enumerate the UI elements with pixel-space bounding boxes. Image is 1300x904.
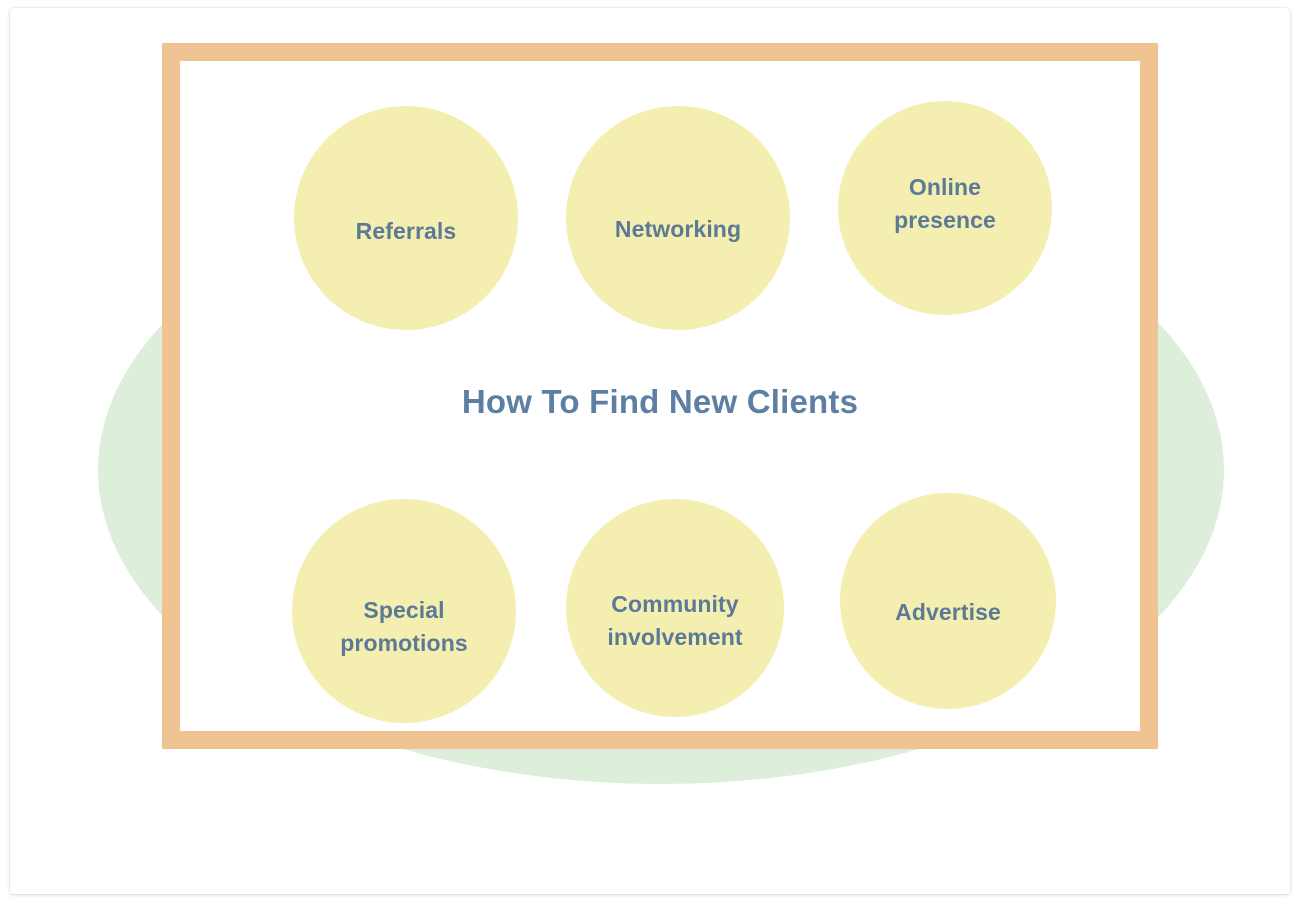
bubble-line-2: presence xyxy=(894,207,996,233)
bubble-label-special-promotions: Special promotions xyxy=(340,594,468,661)
bubble-line-1: Special xyxy=(363,597,444,623)
bubble-special-promotions: Special promotions xyxy=(292,499,516,723)
bubble-line-2: involvement xyxy=(607,624,742,650)
bubble-line-1: Online xyxy=(909,174,981,200)
bubble-referrals: Referrals xyxy=(294,106,518,330)
bubble-label-community-involvement: Community involvement xyxy=(607,588,742,655)
infographic-canvas: Referrals Networking Online presence How… xyxy=(0,0,1300,904)
slide-card: Referrals Networking Online presence How… xyxy=(10,8,1290,894)
bubble-networking: Networking xyxy=(566,106,790,330)
content-frame: Referrals Networking Online presence How… xyxy=(162,43,1158,749)
bubble-line-2: promotions xyxy=(340,630,468,656)
bubble-label-referrals: Referrals xyxy=(356,215,457,248)
bubble-label-online-presence: Online presence xyxy=(894,171,996,238)
bubble-label-advertise: Advertise xyxy=(895,596,1001,629)
bubble-online-presence: Online presence xyxy=(838,101,1052,315)
bubble-advertise: Advertise xyxy=(840,493,1056,709)
bubble-label-networking: Networking xyxy=(615,213,741,246)
page-title: How To Find New Clients xyxy=(180,383,1140,421)
footer: https://www.medesk.net/en/blog/advertise… xyxy=(10,764,1290,894)
frame-inner: Referrals Networking Online presence How… xyxy=(180,61,1140,731)
bubble-community-involvement: Community involvement xyxy=(566,499,784,717)
bubble-line-1: Community xyxy=(611,591,738,617)
